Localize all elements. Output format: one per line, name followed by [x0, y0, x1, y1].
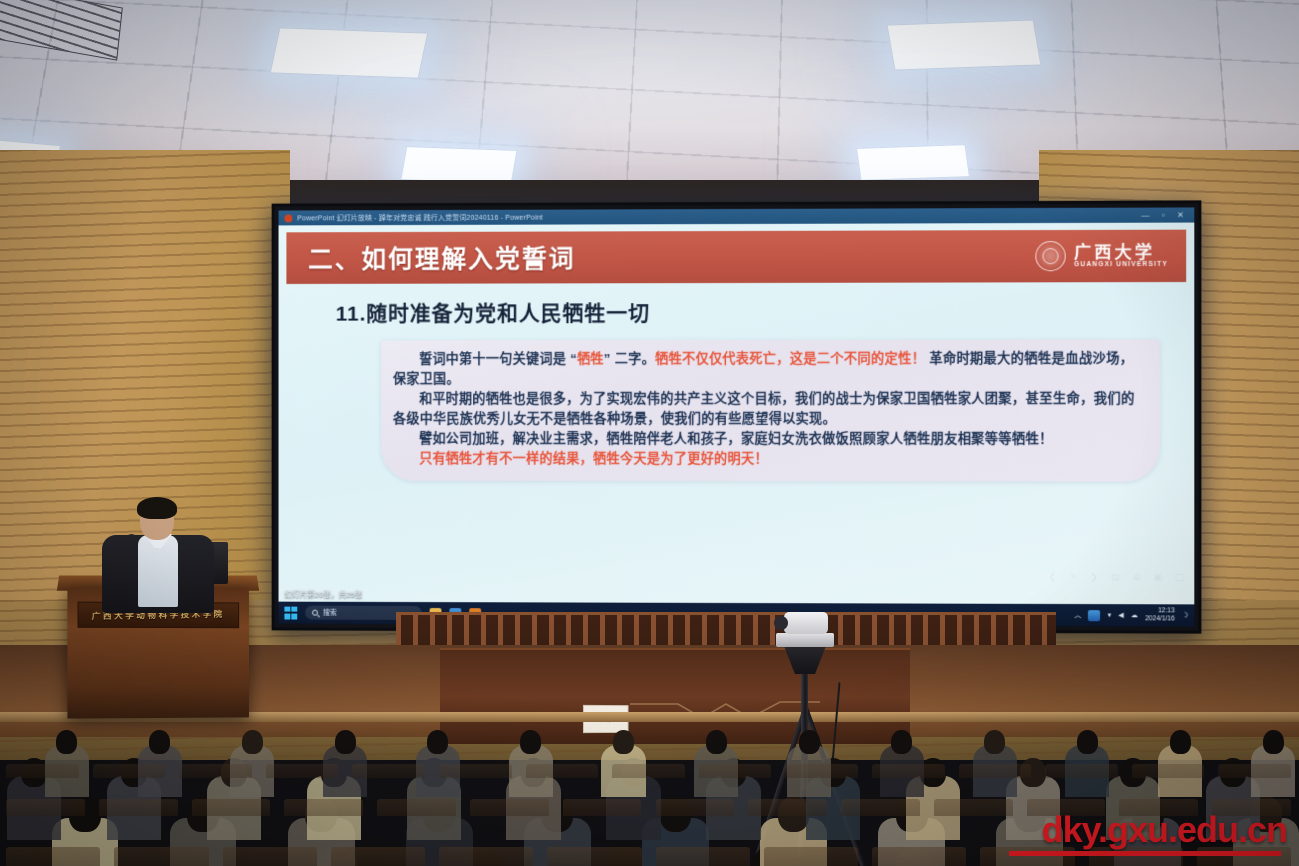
auditorium-seat	[748, 799, 827, 816]
slide-counter: 幻灯片第20张，共25张	[284, 589, 362, 600]
auditorium-seat	[284, 799, 363, 816]
lecture-hall-scene: PowerPoint 幻灯片放映 - 踔年对党忠诚 践行入党誓词20240116…	[0, 0, 1299, 866]
auditorium-seat	[872, 847, 966, 866]
audience-head	[242, 730, 263, 754]
auditorium-seat	[6, 847, 100, 866]
auditorium-seat	[179, 764, 252, 778]
minimize-button[interactable]: —	[1141, 211, 1149, 219]
text-run: 誓词中第十一句关键词是 “	[419, 351, 577, 366]
auditorium-seat	[872, 764, 945, 778]
slideshow-options-icon[interactable]: ▣	[1154, 573, 1163, 582]
audience-head	[149, 730, 170, 754]
windows-start-icon[interactable]	[284, 606, 297, 619]
ceiling-light-panel	[856, 144, 970, 181]
audience-head	[427, 730, 448, 754]
pen-tool-icon[interactable]: ✎	[1069, 573, 1077, 582]
auditorium-seat	[377, 799, 456, 816]
presenter-view-icon[interactable]: 🖵	[1175, 573, 1184, 582]
auditorium-seat	[352, 764, 425, 778]
previous-slide-icon[interactable]: ❮	[1049, 573, 1057, 582]
slide-canvas: 二、如何理解入党誓词 广西大学 GUANGXI UNIVERSITY 11.随时…	[279, 223, 1195, 605]
auditorium-seat	[99, 799, 178, 816]
audience-head	[335, 730, 356, 754]
slideshow-control-bar[interactable]: ❮ ✎ ❯ ▤ ⊞ ▣ 🖵	[1049, 573, 1185, 582]
auditorium-seat	[439, 847, 533, 866]
auditorium-seat	[1132, 764, 1205, 778]
slide-content-card: 誓词中第十一句关键词是 “牺牲” 二字。牺牲不仅仅代表死亡，这是二个不同的定性！…	[381, 339, 1160, 481]
audience-head	[1263, 730, 1284, 754]
text-run: 譬如公司加班，解决业主需求，牺牲陪伴老人和孩子，家庭妇女洗衣做饭照顾家人牺牲朋友…	[419, 431, 1053, 446]
volume-icon[interactable]: ◀	[1118, 611, 1123, 619]
watermark-underline	[1009, 851, 1281, 856]
auditorium-seat	[699, 764, 772, 778]
text-run: 牺牲不仅仅代表死亡，这是二个不同的定性！	[655, 351, 925, 366]
audience-head	[706, 730, 727, 754]
auditorium-seat	[114, 847, 208, 866]
auditorium-seat	[547, 847, 641, 866]
auditorium-seat	[1045, 764, 1118, 778]
audience-head	[613, 730, 634, 754]
ceiling-light-panel	[270, 27, 429, 78]
auditorium-seat	[764, 847, 858, 866]
auditorium-seat	[785, 764, 858, 778]
auditorium-seat	[192, 799, 271, 816]
university-name-cn: 广西大学	[1074, 243, 1168, 261]
wifi-icon[interactable]: ▾	[1108, 611, 1112, 619]
powerpoint-icon	[284, 214, 292, 222]
audience-head	[1077, 730, 1098, 754]
audience-head	[891, 730, 912, 754]
text-run: 和平时期的牺牲也是很多，为了实现宏伟的共产主义这个目标，我们的战士为保家卫国牺牲…	[393, 391, 1135, 426]
projection-screen: PowerPoint 幻灯片放映 - 踔年对党忠诚 践行入党誓词20240116…	[272, 200, 1202, 633]
slide-paragraph: 誓词中第十一句关键词是 “牺牲” 二字。牺牲不仅仅代表死亡，这是二个不同的定性！…	[393, 349, 1144, 390]
auditorium-seat	[841, 799, 920, 816]
search-placeholder: 搜索	[323, 608, 337, 618]
auditorium-seat	[470, 799, 549, 816]
cloud-icon[interactable]: ☁	[1131, 611, 1138, 619]
auditorium-seat	[439, 764, 512, 778]
auditorium-seat	[656, 799, 735, 816]
auditorium-seat	[612, 764, 685, 778]
slide-paragraph-highlight: 只有牺牲才有不一样的结果，牺牲今天是为了更好的明天！	[393, 449, 1144, 470]
auditorium-seat	[1218, 764, 1291, 778]
notifications-icon[interactable]: ☽	[1182, 611, 1188, 619]
close-button[interactable]: ✕	[1177, 211, 1184, 219]
speaker-hair	[137, 497, 177, 519]
all-slides-icon[interactable]: ▤	[1111, 573, 1120, 582]
text-run: 牺牲	[577, 351, 604, 366]
maximize-button[interactable]: ▫	[1162, 211, 1165, 219]
auditorium-seat	[526, 764, 599, 778]
text-run: ” 二字。	[604, 351, 655, 366]
search-icon	[312, 610, 318, 616]
audience-head	[984, 730, 1005, 754]
auditorium-seat	[223, 847, 317, 866]
audience-head	[799, 730, 820, 754]
watermark-url: dky.gxu.edu.cn	[1042, 812, 1287, 848]
window-title: PowerPoint 幻灯片放映 - 踔年对党忠诚 践行入党誓词20240116…	[297, 212, 543, 223]
audience-head	[520, 730, 541, 754]
speaker-presenter	[96, 500, 222, 612]
slide-paragraph: 和平时期的牺牲也是很多，为了实现宏伟的共产主义这个目标，我们的战士为保家卫国牺牲…	[393, 389, 1144, 429]
slide-paragraph: 譬如公司加班，解决业主需求，牺牲陪伴老人和孩子，家庭妇女洗衣做饭照顾家人牺牲朋友…	[393, 429, 1144, 449]
slide-header-band: 二、如何理解入党誓词 广西大学 GUANGXI UNIVERSITY	[286, 230, 1186, 284]
auditorium-seat	[6, 764, 79, 778]
next-slide-icon[interactable]: ❯	[1090, 573, 1098, 582]
clock-time: 12:13	[1158, 608, 1175, 616]
tray-overflow-icon[interactable]: ︿	[1074, 610, 1081, 620]
text-run: 只有牺牲才有不一样的结果，牺牲今天是为了更好的明天！	[419, 451, 768, 466]
auditorium-seat	[331, 847, 425, 866]
slide-subtitle: 11.随时准备为党和人民牺牲一切	[336, 296, 1195, 327]
slide-section-title: 二、如何理解入党誓词	[308, 239, 575, 276]
audience-head	[1170, 730, 1191, 754]
auditorium-seat	[934, 799, 1013, 816]
ceiling-light-panel	[400, 146, 517, 184]
university-seal-icon	[1036, 241, 1066, 271]
zoom-slide-icon[interactable]: ⊞	[1133, 573, 1141, 582]
audience-head	[56, 730, 77, 754]
ceiling-light-panel	[886, 19, 1041, 70]
auditorium-seat	[563, 799, 642, 816]
auditorium-seat	[6, 799, 85, 816]
powerpoint-window: PowerPoint 幻灯片放映 - 踔年对党忠诚 践行入党誓词20240116…	[279, 207, 1195, 626]
university-logo: 广西大学 GUANGXI UNIVERSITY	[1036, 241, 1168, 272]
auditorium-seat	[959, 764, 1032, 778]
auditorium-seat	[93, 764, 166, 778]
auditorium-seat	[266, 764, 339, 778]
auditorium-seat	[656, 847, 750, 866]
university-name-en: GUANGXI UNIVERSITY	[1074, 261, 1168, 268]
